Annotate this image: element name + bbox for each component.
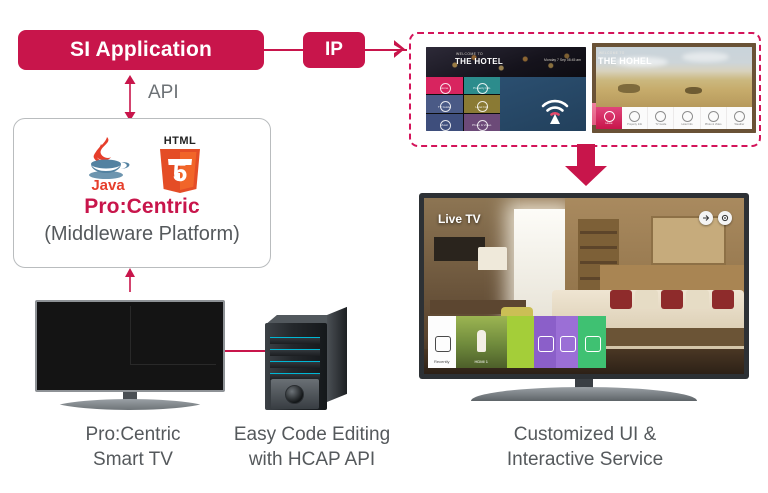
inset-a-tile-hotel-info[interactable]: Hotel Info: [464, 95, 501, 112]
caption-line: with HCAP API: [212, 447, 412, 472]
tv-screen: [35, 300, 225, 392]
inset-b-item-tv-guide[interactable]: TV Guide: [648, 107, 674, 129]
middleware-platform-box: Java HTML 5 Pro:Centric (Middleware Plat…: [13, 118, 271, 268]
server-power-button[interactable]: [285, 385, 304, 404]
inset-b-item-hotel-info[interactable]: Hotel Info: [674, 107, 700, 129]
recent-icon: [435, 336, 451, 352]
inset-screen-hotel-home: WELCOME TO THE HOHEL Home Property Info …: [592, 43, 756, 133]
inset-b-item-photo-video[interactable]: Photo & Video: [701, 107, 727, 129]
tv-bezel: Live TV Recently HDMI 1: [419, 193, 749, 379]
music-app-icon: [538, 336, 554, 352]
server-side-panel: [327, 307, 347, 402]
inset-a-kicker: WELCOME TO: [456, 52, 483, 56]
tv-stand: [49, 399, 211, 410]
html5-logo: HTML 5: [153, 131, 207, 193]
inset-a-meta: Monday 7 Sep 08:45 am: [544, 58, 581, 62]
settings-gear-icon[interactable]: [718, 211, 732, 225]
tile-label: Property Info: [464, 86, 501, 90]
customized-ui-tv: Live TV Recently HDMI 1: [419, 193, 749, 409]
ip-node-box[interactable]: IP: [303, 32, 365, 68]
server-body: [265, 323, 327, 410]
launcher-tile-media-app[interactable]: [556, 316, 578, 368]
info-icon: [629, 111, 640, 122]
api-label: API: [148, 82, 179, 104]
app-icon: [514, 336, 528, 350]
tile-label: TV Guide: [426, 105, 463, 109]
tile-label: Home: [426, 86, 463, 90]
menu-label: Photo & Video: [705, 123, 722, 126]
tv-corner-icons: [699, 211, 732, 225]
inset-b-ribbon: [592, 103, 596, 125]
tile-label: Recently: [428, 359, 456, 364]
menu-label: Property Info: [627, 123, 642, 126]
inset-b-item-weather[interactable]: Weather: [727, 107, 752, 129]
double-arrow-vertical-icon: [121, 75, 139, 121]
tile-label: Photo & Video: [464, 123, 501, 127]
cloud-shape: [682, 52, 729, 62]
pro-centric-smart-tv: [35, 300, 225, 410]
live-tv-overlay-label: Live TV: [438, 212, 481, 226]
tv-app-icon: [585, 336, 601, 352]
tile-label: Hotel Info: [464, 105, 501, 109]
inset-b-title: THE HOHEL: [598, 56, 652, 66]
caption-smart-tv: Pro:Centric Smart TV: [58, 422, 208, 472]
inset-a-tile-home[interactable]: Home: [426, 77, 463, 94]
launcher-tile-app-1[interactable]: [507, 316, 535, 368]
launcher-tile-recently[interactable]: Recently: [428, 316, 456, 368]
tv-screen: Live TV Recently HDMI 1: [424, 198, 744, 374]
middleware-subtitle: (Middleware Platform): [14, 223, 270, 246]
menu-label: Home: [606, 122, 613, 125]
si-application-label: SI Application: [70, 38, 212, 62]
platform-logos: Java HTML 5: [14, 127, 270, 193]
svg-text:5: 5: [173, 157, 187, 187]
ip-node-label: IP: [325, 39, 343, 61]
inset-a-content-pane: [500, 77, 586, 131]
hdmi-thumbnail: [477, 330, 486, 352]
middleware-title: Pro:Centric: [14, 195, 270, 219]
server-drive-bay: [270, 337, 320, 344]
inset-a-title: THE HOTEL: [455, 57, 503, 66]
tile-label: Music: [426, 123, 463, 127]
inset-a-tile-photo-video[interactable]: Photo & Video: [464, 114, 501, 131]
connector-si-to-ip: [264, 49, 303, 51]
caption-customized-ui: Customized UI & Interactive Service: [470, 422, 700, 472]
inset-a-tile-tv-guide[interactable]: TV Guide: [426, 95, 463, 112]
server-tower: [265, 315, 351, 410]
input-source-icon[interactable]: [699, 211, 713, 225]
arrow-down-icon: [564, 144, 608, 186]
home-icon: [604, 111, 615, 122]
media-app-icon: [560, 336, 576, 352]
menu-label: TV Guide: [655, 123, 666, 126]
photo-icon: [708, 111, 719, 122]
caption-line: Easy Code Editing: [212, 422, 412, 447]
inset-b-kicker: WELCOME TO: [599, 51, 625, 55]
inset-a-tile-grid: Home Property Info TV Guide Hotel Info M…: [426, 77, 500, 131]
si-application-box[interactable]: SI Application: [18, 30, 264, 70]
tile-label: HDMI 1: [456, 359, 507, 364]
server-drive-bay: [270, 361, 320, 368]
bell-icon: [682, 111, 693, 122]
caption-code-editing: Easy Code Editing with HCAP API: [212, 422, 412, 472]
wifi-tower-icon: [538, 94, 572, 124]
tv-stand: [471, 387, 697, 401]
arrow-right-icon: [394, 40, 406, 58]
inset-b-menu-bar: Home Property Info TV Guide Hotel Info P…: [596, 107, 752, 129]
weather-icon: [734, 111, 745, 122]
field-shape: [618, 84, 640, 92]
menu-label: Hotel Info: [681, 123, 692, 126]
inset-a-hero-image: WELCOME TO THE HOTEL Monday 7 Sep 08:45 …: [426, 47, 586, 77]
menu-label: Weather: [735, 123, 745, 126]
launcher-tile-hdmi1[interactable]: HDMI 1: [456, 316, 507, 368]
webos-launcher-bar: Recently HDMI 1: [428, 316, 606, 368]
launcher-tile-music-app[interactable]: [534, 316, 556, 368]
svg-text:HTML: HTML: [164, 135, 197, 147]
server-drive-bay: [270, 349, 320, 356]
inset-screen-welcome-menu: WELCOME TO THE HOTEL Monday 7 Sep 08:45 …: [426, 47, 586, 131]
field-shape: [685, 87, 702, 95]
inset-a-tile-music[interactable]: Music: [426, 114, 463, 131]
caption-line: Customized UI &: [470, 422, 700, 447]
launcher-tile-tv-app[interactable]: [578, 316, 606, 368]
caption-line: Smart TV: [58, 447, 208, 472]
caption-line: Pro:Centric: [58, 422, 208, 447]
arrow-up-icon: [122, 268, 138, 292]
tv-icon: [655, 111, 666, 122]
inset-b-item-home[interactable]: Home: [596, 107, 622, 129]
java-logo: Java: [77, 131, 139, 193]
svg-text:Java: Java: [91, 177, 125, 193]
inset-a-tile-property-info[interactable]: Property Info: [464, 77, 501, 94]
inset-b-item-property-info[interactable]: Property Info: [622, 107, 648, 129]
caption-line: Interactive Service: [470, 447, 700, 472]
